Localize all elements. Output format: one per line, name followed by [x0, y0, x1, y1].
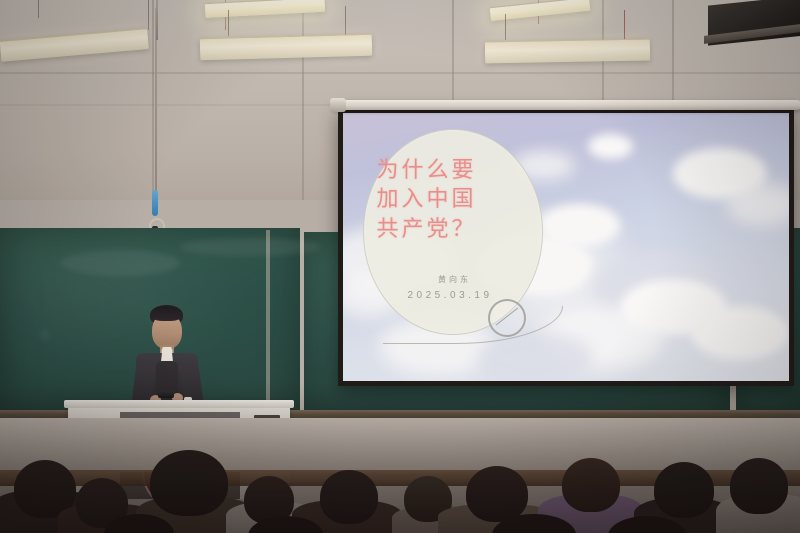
presenter — [128, 305, 218, 415]
slide-title-line-2: 加入中国 — [376, 185, 528, 214]
audience — [0, 418, 800, 533]
slide-decorative-ring — [488, 299, 526, 337]
slide-title-line-3: 共产党？ — [376, 215, 528, 244]
screen-roller — [332, 100, 800, 110]
list-item — [320, 470, 378, 524]
chalkboard-divider-left — [266, 230, 270, 412]
hanging-cord-upper — [156, 0, 158, 40]
list-item — [730, 458, 788, 514]
list-item — [654, 462, 714, 518]
slide-date: 2025.03.19 — [383, 290, 517, 301]
projector-screen: 为什么要 加入中国 共产党？ 黄向东 2025.03.19 — [338, 108, 794, 386]
slide-content: 为什么要 加入中国 共产党？ 黄向东 2025.03.19 — [343, 113, 789, 381]
slide-author: 黄向东 — [397, 274, 513, 285]
list-item — [466, 466, 528, 522]
lecture-photo-scene: 为什么要 加入中国 共产党？ 黄向东 2025.03.19 — [0, 0, 800, 533]
cord-blue-marker — [152, 190, 158, 216]
slide-title: 为什么要 加入中国 共产党？ — [376, 156, 528, 244]
presentation-remote — [158, 391, 174, 398]
slide-title-line-1: 为什么要 — [376, 156, 528, 185]
screen-roller-cap — [330, 98, 346, 112]
presenter-hair-top — [151, 307, 182, 321]
list-item — [150, 450, 228, 516]
podium-top-surface — [64, 400, 294, 408]
ceiling-lamp-center — [200, 34, 373, 60]
ceiling-lamp-right — [485, 39, 650, 64]
list-item — [562, 458, 620, 512]
